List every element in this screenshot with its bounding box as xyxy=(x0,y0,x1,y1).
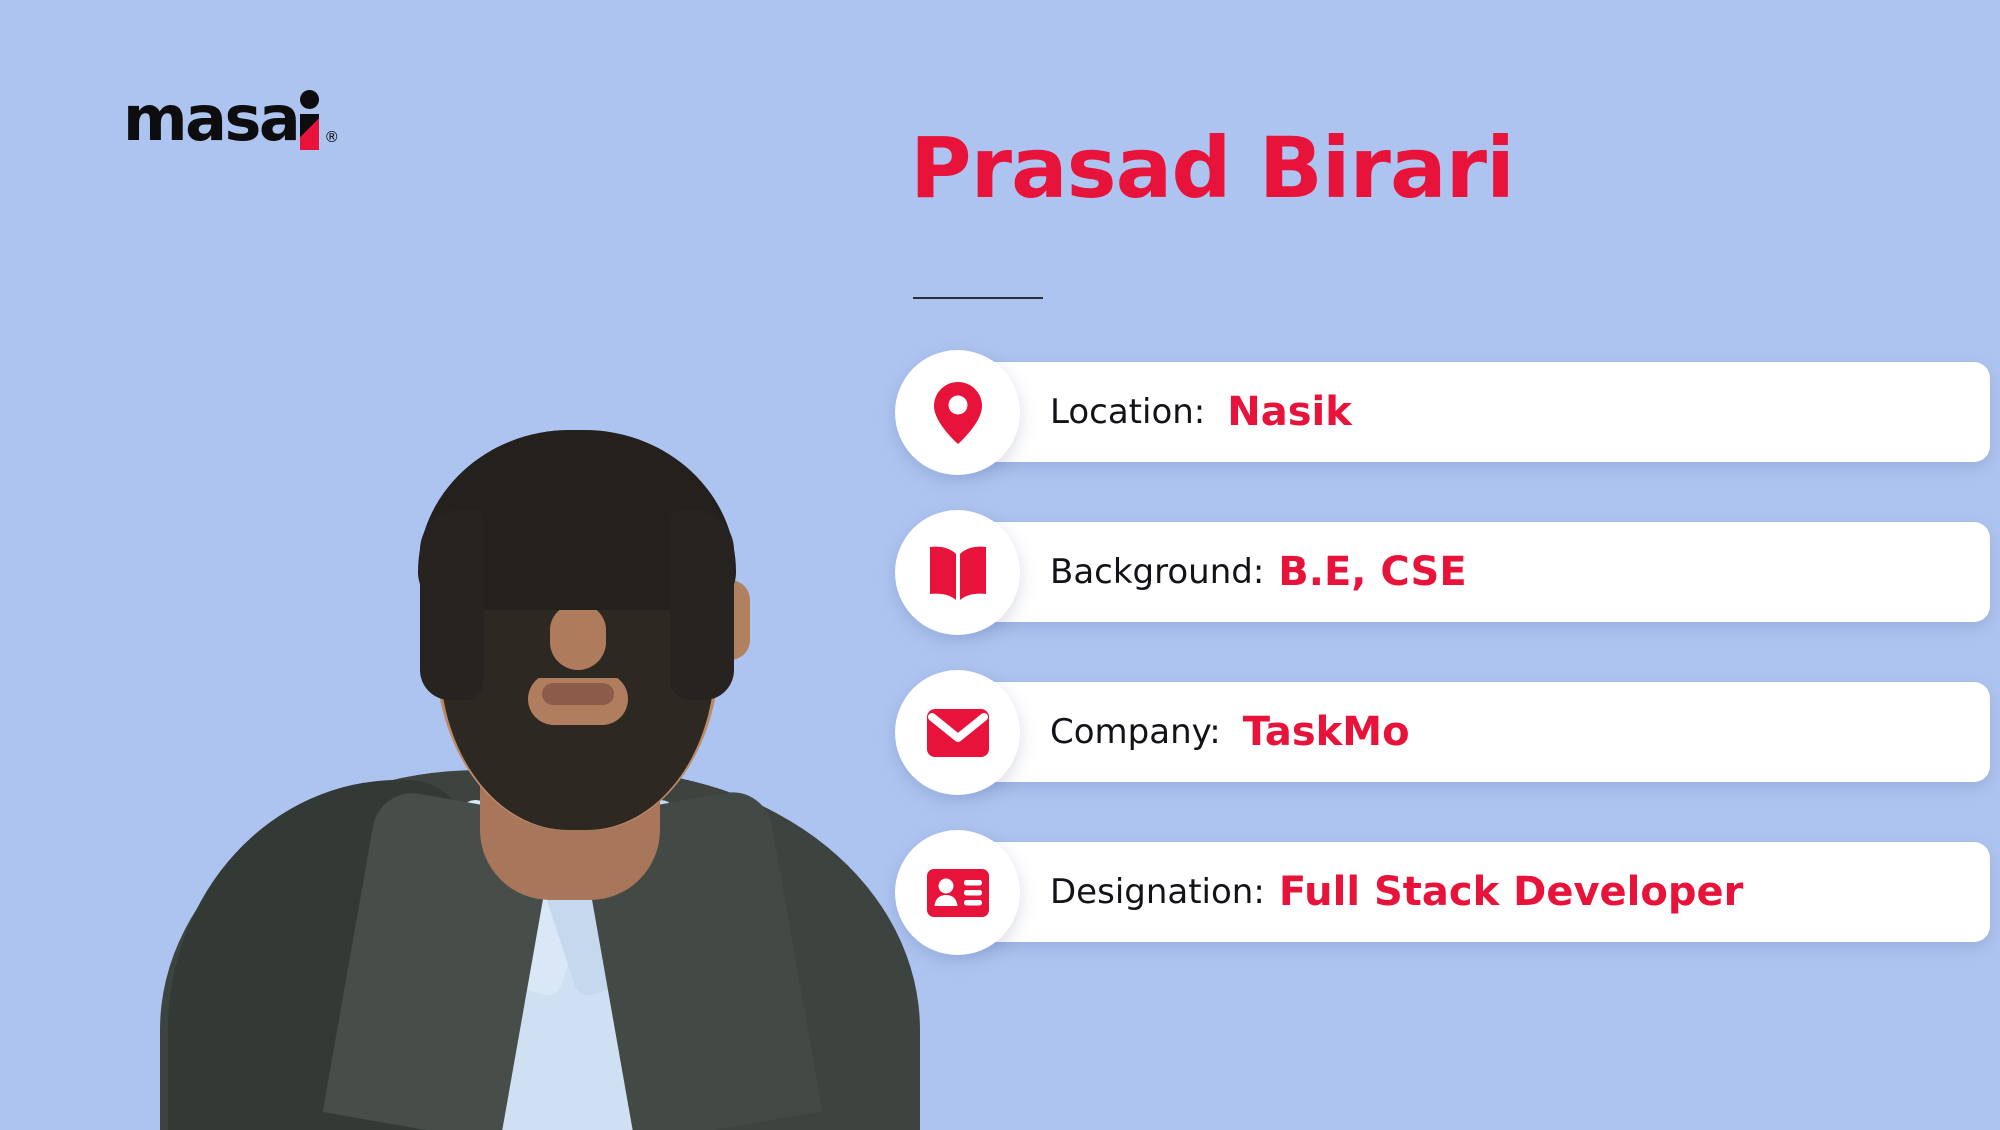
logo-i-dot xyxy=(300,90,319,109)
detail-row-text: Background: B.E, CSE xyxy=(1050,522,1467,622)
id-card-icon xyxy=(895,830,1020,955)
page-title: Prasad Birari xyxy=(910,126,1514,210)
detail-label: Location: xyxy=(1050,392,1205,432)
detail-row-text: Location: Nasik xyxy=(1050,362,1352,462)
detail-row-text: Designation: Full Stack Developer xyxy=(1050,842,1743,942)
photo-nose xyxy=(550,604,606,670)
open-book-icon xyxy=(895,510,1020,635)
detail-row-location: Location: Nasik xyxy=(890,350,2000,475)
detail-row-background: Background: B.E, CSE xyxy=(890,510,2000,635)
registered-trademark-icon: ® xyxy=(324,128,339,146)
detail-value: Nasik xyxy=(1227,389,1352,435)
logo-i-stem xyxy=(300,114,319,150)
logo-wordmark: masa xyxy=(123,88,298,150)
profile-card: masa ® xyxy=(0,0,2000,1130)
photo-hair-side-left xyxy=(420,510,484,700)
detail-value: B.E, CSE xyxy=(1278,549,1466,595)
info-panel: Prasad Birari Location: Nasik xyxy=(890,0,2000,1130)
envelope-icon xyxy=(895,670,1020,795)
profile-photo xyxy=(150,155,930,1130)
location-pin-icon xyxy=(895,350,1020,475)
detail-row-company: Company: TaskMo xyxy=(890,670,2000,795)
masai-logo: masa ® xyxy=(123,88,339,150)
detail-row-text: Company: TaskMo xyxy=(1050,682,1410,782)
detail-label: Company: xyxy=(1050,712,1221,752)
detail-label: Background: xyxy=(1050,552,1264,592)
detail-label: Designation: xyxy=(1050,872,1265,912)
detail-value: Full Stack Developer xyxy=(1279,869,1744,915)
photo-lips xyxy=(542,683,614,705)
detail-value: TaskMo xyxy=(1243,709,1410,755)
detail-row-designation: Designation: Full Stack Developer xyxy=(890,830,2000,955)
title-divider xyxy=(913,297,1043,299)
photo-hair-side-right xyxy=(670,510,734,700)
logo-letter-i xyxy=(299,88,321,150)
detail-rows: Location: Nasik Background: B.E, CSE xyxy=(890,350,2000,990)
